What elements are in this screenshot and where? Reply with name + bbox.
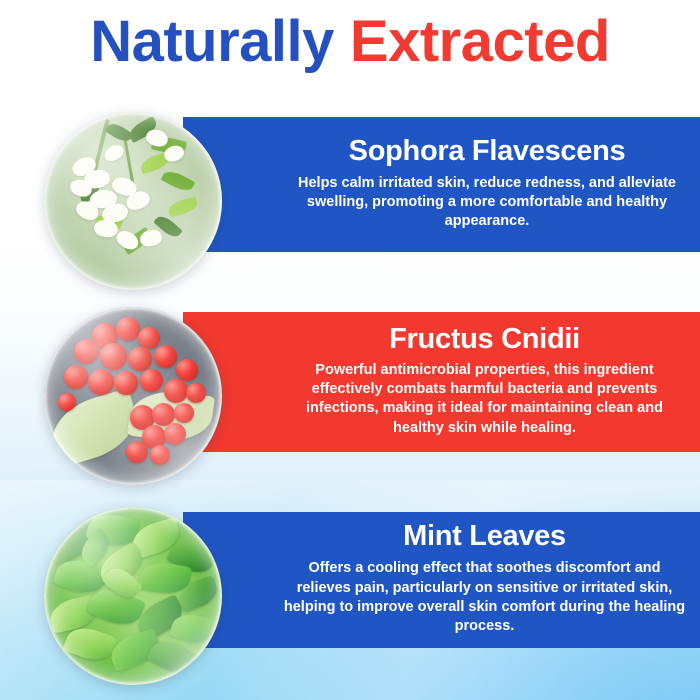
ingredient-image-fructus-cnidii xyxy=(44,307,222,485)
ingredient-name: Fructus Cnidii xyxy=(389,324,580,356)
ingredient-row-fructus-cnidii: Fructus Cnidii Powerful antimicrobial pr… xyxy=(0,307,700,479)
ingredient-banner: Fructus Cnidii Powerful antimicrobial pr… xyxy=(183,312,700,452)
cnidii-berry-scene xyxy=(44,307,222,485)
ingredient-name: Sophora Flavescens xyxy=(349,136,626,168)
ingredient-image-mint-leaves xyxy=(44,507,222,685)
ingredient-image-sophora-flavescens xyxy=(44,112,222,290)
ingredient-description: Helps calm irritated skin, reduce rednes… xyxy=(288,174,686,232)
ingredient-row-sophora-flavescens: Sophora Flavescens Helps calm irritated … xyxy=(0,112,700,284)
mint-leaf-scene xyxy=(44,507,222,685)
ingredient-row-mint-leaves: Mint Leaves Offers a cooling effect that… xyxy=(0,507,700,679)
page-title: NaturallyExtracted xyxy=(0,8,700,75)
ingredient-description: Offers a cooling effect that soothes dis… xyxy=(283,559,686,636)
ingredient-banner: Mint Leaves Offers a cooling effect that… xyxy=(183,512,700,648)
title-word-naturally: Naturally xyxy=(90,9,334,74)
ingredient-name: Mint Leaves xyxy=(403,521,566,553)
title-word-extracted: Extracted xyxy=(350,9,610,74)
ingredient-banner: Sophora Flavescens Helps calm irritated … xyxy=(183,117,700,252)
sophora-flower-scene xyxy=(44,112,222,290)
ingredient-description: Powerful antimicrobial properties, this … xyxy=(283,361,686,438)
